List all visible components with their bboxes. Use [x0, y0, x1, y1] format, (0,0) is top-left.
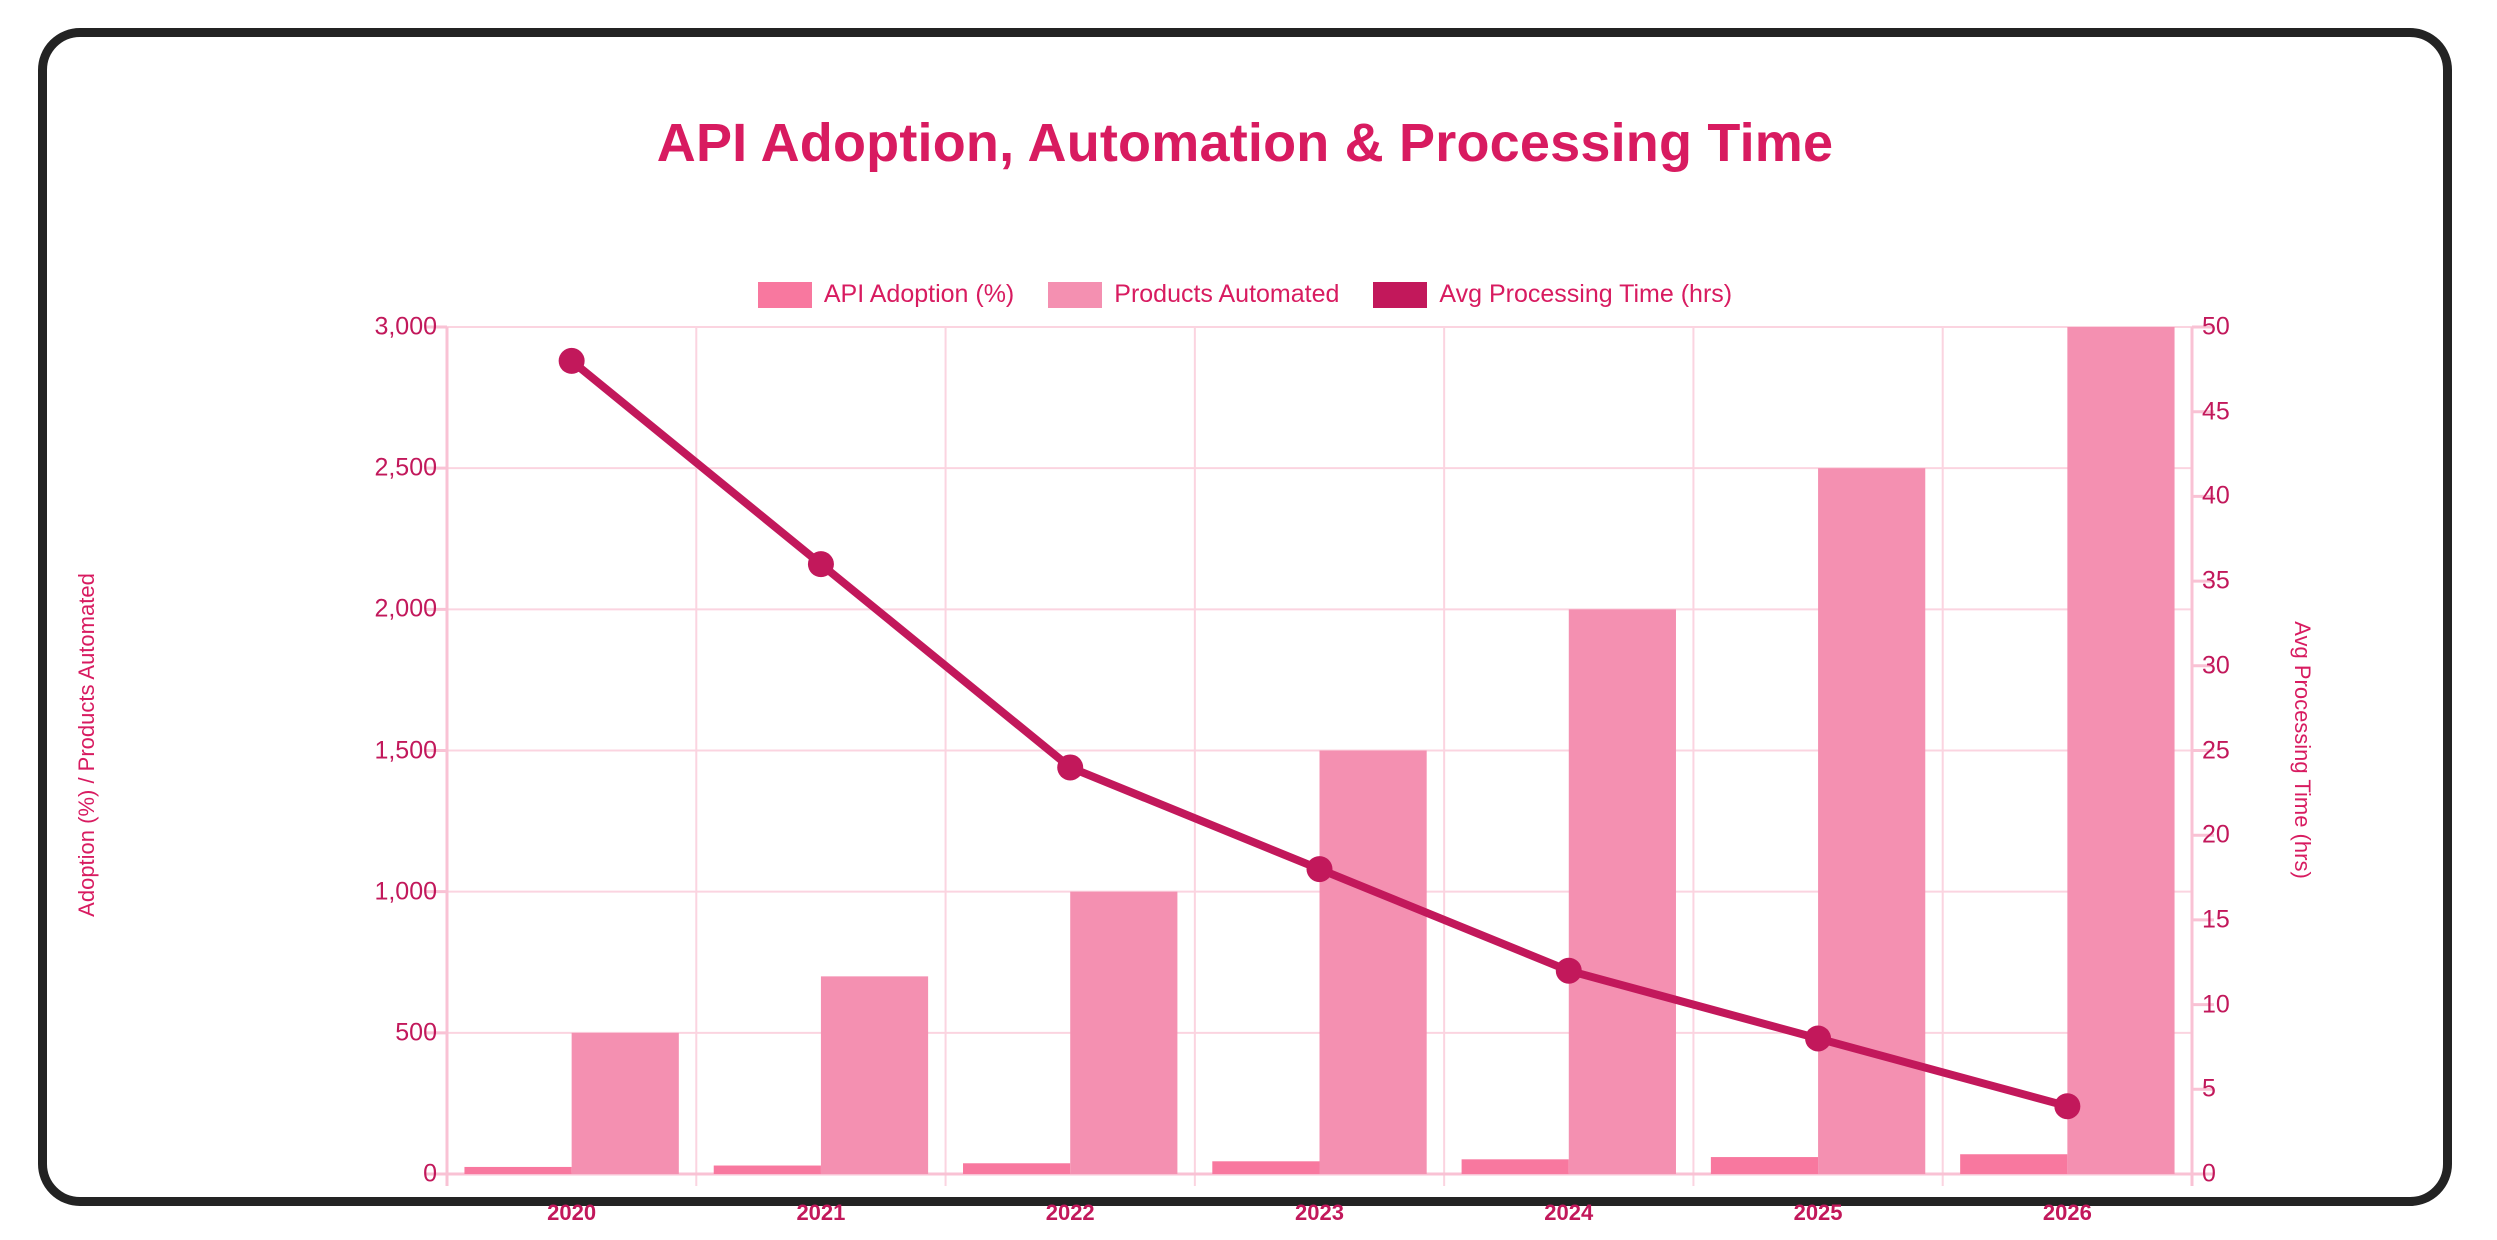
bar-2020[interactable] — [572, 1033, 679, 1174]
bar-2020[interactable] — [464, 1167, 571, 1174]
y-axis-right-tick-label: 50 — [2202, 313, 2230, 342]
y-axis-right-tick-label: 25 — [2202, 736, 2230, 765]
y-axis-left-tick-label: 1,000 — [307, 877, 437, 906]
x-axis-tick-label-2022: 2022 — [1046, 1200, 1095, 1226]
y-axis-left-tick-label: 0 — [307, 1160, 437, 1189]
x-axis-tick-label-2025: 2025 — [1794, 1200, 1843, 1226]
line-marker-2020[interactable] — [559, 348, 585, 374]
y-axis-left-tick-label: 1,500 — [307, 736, 437, 765]
bar-2025[interactable] — [1818, 468, 1925, 1174]
y-axis-left-tick-label: 2,500 — [307, 454, 437, 483]
line-marker-2022[interactable] — [1057, 754, 1083, 780]
x-axis-tick-label-2024: 2024 — [1544, 1200, 1593, 1226]
y-axis-right-tick-label: 15 — [2202, 905, 2230, 934]
line-marker-2025[interactable] — [1805, 1025, 1831, 1051]
bar-2024[interactable] — [1462, 1159, 1569, 1174]
y-axis-right-title: Avg Processing Time (hrs) — [2289, 540, 2315, 960]
x-axis-tick-label-2023: 2023 — [1295, 1200, 1344, 1226]
x-axis-tick-label-2026: 2026 — [2043, 1200, 2092, 1226]
line-marker-2023[interactable] — [1307, 856, 1333, 882]
line-marker-2021[interactable] — [808, 551, 834, 577]
x-axis-tick-label-2020: 2020 — [547, 1200, 596, 1226]
chart-frame: API Adoption, Automation & Processing Ti… — [38, 28, 2452, 1206]
y-axis-right-tick-label: 40 — [2202, 482, 2230, 511]
bar-2022[interactable] — [963, 1163, 1070, 1174]
y-axis-right-tick-label: 30 — [2202, 651, 2230, 680]
y-axis-right-tick-label: 20 — [2202, 821, 2230, 850]
y-axis-right-tick-label: 10 — [2202, 990, 2230, 1019]
line-marker-2024[interactable] — [1556, 958, 1582, 984]
y-axis-left-tick-label: 500 — [307, 1018, 437, 1047]
bar-2026[interactable] — [1960, 1154, 2067, 1174]
bar-2021[interactable] — [821, 976, 928, 1174]
y-axis-left-title: Adoption (%) / Products Automated — [74, 535, 100, 955]
y-axis-right-tick-label: 35 — [2202, 567, 2230, 596]
bar-2025[interactable] — [1711, 1157, 1818, 1174]
bar-2024[interactable] — [1569, 609, 1676, 1174]
y-axis-right-tick-label: 5 — [2202, 1075, 2216, 1104]
x-axis-tick-label-2021: 2021 — [796, 1200, 845, 1226]
bar-2023[interactable] — [1320, 751, 1427, 1175]
bar-2023[interactable] — [1212, 1161, 1319, 1174]
y-axis-left-tick-label: 2,000 — [307, 595, 437, 624]
y-axis-left-tick-label: 3,000 — [307, 313, 437, 342]
bar-2022[interactable] — [1070, 892, 1177, 1174]
bar-2026[interactable] — [2067, 327, 2174, 1174]
y-axis-left-ticks: 05001,0001,5002,0002,5003,000 — [307, 37, 437, 1197]
plot-area: 05001,0001,5002,0002,5003,000 0510152025… — [47, 37, 2443, 1197]
bar-2021[interactable] — [714, 1166, 821, 1174]
line-marker-2026[interactable] — [2054, 1093, 2080, 1119]
y-axis-right-tick-label: 45 — [2202, 397, 2230, 426]
y-axis-right-tick-label: 0 — [2202, 1160, 2216, 1189]
